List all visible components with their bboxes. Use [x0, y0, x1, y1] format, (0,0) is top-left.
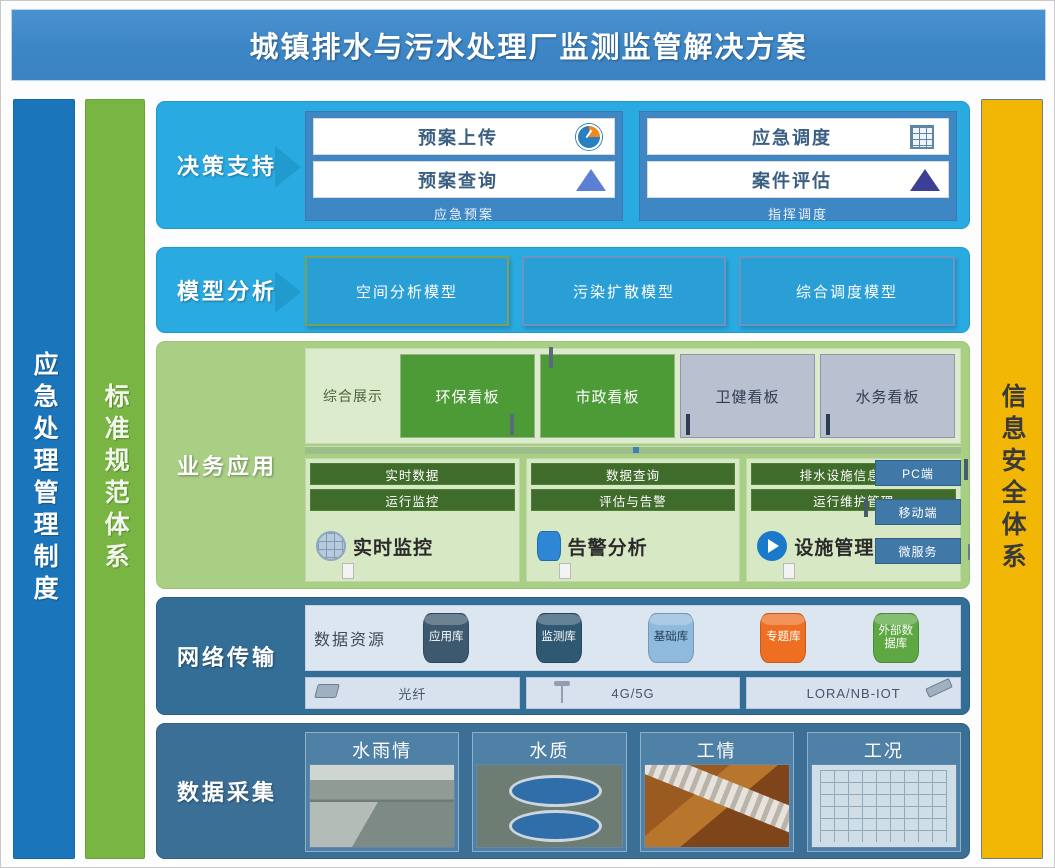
model-card-spatial[interactable]: 空间分析模型	[305, 256, 509, 326]
phone-icon	[864, 501, 868, 515]
treatment-plant-photo	[476, 764, 622, 848]
model-card-dispatch[interactable]: 综合调度模型	[739, 256, 955, 326]
fiber-icon	[314, 684, 340, 698]
decision-item-emergency-dispatch[interactable]: 应急调度	[647, 118, 949, 155]
play-icon	[757, 531, 787, 561]
data-card-water-quality[interactable]: 水质	[472, 732, 626, 852]
business-pill-assessment-alarm[interactable]: 评估与告警	[531, 489, 736, 511]
data-card-hydrology[interactable]: 水雨情	[305, 732, 459, 852]
dashboard-scrollbar[interactable]	[305, 446, 961, 454]
network-link-label: 4G/5G	[611, 686, 654, 701]
data-card-title: 工况	[811, 736, 957, 764]
terminal-buttons: PC端 移动端 微服务	[875, 460, 961, 582]
layer-network-transmission-label: 网络传输	[157, 598, 297, 714]
decision-item-label: 应急调度	[648, 124, 910, 150]
business-pill-operation-monitoring[interactable]: 运行监控	[310, 489, 515, 511]
business-columns: 实时数据 运行监控 实时监控 数据查询 评估与告警 告警分析 排水设施信息管理	[305, 458, 961, 582]
business-pill-data-query[interactable]: 数据查询	[531, 463, 736, 485]
database-external[interactable]: 外部数据库	[873, 613, 919, 663]
decision-group-emergency-plan: 预案上传 预案查询 应急预案	[305, 111, 623, 221]
scada-diagram-photo	[811, 764, 957, 848]
comprehensive-display-label: 综合展示	[311, 354, 395, 438]
globe-icon	[316, 531, 346, 561]
data-resource-strip: 数据资源 应用库 监测库 基础库 专题库 外部数据库	[305, 605, 961, 671]
board-municipal[interactable]: 市政看板	[540, 354, 675, 438]
decision-group-caption: 指挥调度	[647, 204, 949, 223]
layer-business-application: 业务应用 综合展示 环保看板 市政看板 卫健看板 水务看板 实	[156, 341, 970, 589]
database-monitoring[interactable]: 监测库	[536, 613, 582, 663]
pipeline-photo	[644, 764, 790, 848]
page-title: 城镇排水与污水处理厂监测监管解决方案	[249, 24, 807, 66]
network-link-fiber[interactable]: 光纤	[305, 677, 520, 709]
channel-photo	[309, 764, 455, 848]
business-column-monitoring: 实时数据 运行监控 实时监控	[305, 458, 520, 582]
grid-table-icon	[910, 122, 942, 152]
board-health[interactable]: 卫健看板	[680, 354, 815, 438]
gauge-icon	[576, 122, 608, 152]
pillar-information-security: 信息安全体系	[981, 99, 1043, 859]
board-water-affairs[interactable]: 水务看板	[820, 354, 955, 438]
data-card-title: 工情	[644, 736, 790, 764]
terminal-label: PC端	[902, 465, 934, 482]
laptop-icon	[964, 461, 968, 475]
database-list: 应用库 监测库 基础库 专题库 外部数据库	[390, 613, 952, 663]
board-label: 卫健看板	[715, 386, 779, 407]
pillar-left-label: 应急处理管理制度	[31, 351, 57, 607]
data-card-title: 水质	[476, 736, 622, 764]
network-link-label: 光纤	[398, 684, 426, 703]
layer-decision-support-label: 决策支持	[157, 102, 297, 228]
document-tag-icon	[342, 563, 354, 579]
business-feature-alarm-analysis[interactable]: 告警分析	[531, 515, 736, 577]
layer-network-transmission: 网络传输 数据资源 应用库 监测库 基础库 专题库 外部数据库 光纤 4G/5G…	[156, 597, 970, 715]
board-environment[interactable]: 环保看板	[400, 354, 535, 438]
pyramid-navy-icon	[910, 165, 942, 195]
database-icon	[537, 531, 561, 561]
board-label: 环保看板	[435, 386, 499, 407]
pillar-emergency-management: 应急处理管理制度	[13, 99, 75, 859]
business-pill-realtime-data[interactable]: 实时数据	[310, 463, 515, 485]
network-link-label: LORA/NB-IOT	[807, 686, 901, 701]
layer-business-application-label: 业务应用	[157, 342, 297, 588]
header-banner: 城镇排水与污水处理厂监测监管解决方案	[11, 9, 1046, 81]
terminal-label: 移动端	[898, 504, 937, 521]
decision-item-plan-upload[interactable]: 预案上传	[313, 118, 615, 155]
data-card-engineering[interactable]: 工情	[640, 732, 794, 852]
decision-item-case-assessment[interactable]: 案件评估	[647, 161, 949, 198]
pyramid-blue-icon	[576, 165, 608, 195]
wrench-icon	[968, 545, 970, 559]
pillar-right-label: 信息安全体系	[999, 383, 1025, 575]
business-column-alarm: 数据查询 评估与告警 告警分析	[526, 458, 741, 582]
database-basic[interactable]: 基础库	[648, 613, 694, 663]
decision-item-plan-query[interactable]: 预案查询	[313, 161, 615, 198]
terminal-label: 微服务	[898, 543, 937, 560]
chart-icon	[686, 416, 704, 432]
business-feature-label: 实时监控	[353, 533, 433, 560]
business-dashboard-strip: 综合展示 环保看板 市政看板 卫健看板 水务看板	[305, 348, 961, 444]
diagram-page: 城镇排水与污水处理厂监测监管解决方案 应急处理管理制度 标准规范体系 信息安全体…	[0, 0, 1055, 868]
decision-item-label: 案件评估	[648, 167, 910, 193]
data-resource-label: 数据资源	[314, 626, 386, 650]
terminal-pc-button[interactable]: PC端	[875, 460, 961, 486]
pillar-middle-label: 标准规范体系	[102, 383, 128, 575]
decision-group-caption: 应急预案	[313, 204, 615, 223]
document-tag-icon	[559, 563, 571, 579]
board-label: 市政看板	[575, 386, 639, 407]
layer-model-analysis: 模型分析 空间分析模型 污染扩散模型 综合调度模型	[156, 247, 970, 333]
decision-item-label: 预案上传	[314, 124, 576, 150]
network-link-list: 光纤 4G/5G LORA/NB-IOT	[305, 677, 961, 709]
antenna-icon	[561, 681, 563, 703]
chart-icon	[826, 416, 844, 432]
model-card-pollution[interactable]: 污染扩散模型	[522, 256, 726, 326]
data-card-title: 水雨情	[309, 736, 455, 764]
terminal-microservice-button[interactable]: 微服务	[875, 538, 961, 564]
database-thematic[interactable]: 专题库	[760, 613, 806, 663]
monitor-icon	[510, 416, 528, 432]
decision-item-label: 预案查询	[314, 167, 576, 193]
database-application[interactable]: 应用库	[423, 613, 469, 663]
layer-decision-support: 决策支持 预案上传 预案查询 应急预案 应急调度 案件评估 指挥调度	[156, 101, 970, 229]
pillar-standards-system: 标准规范体系	[85, 99, 145, 859]
data-card-working-condition[interactable]: 工况	[807, 732, 961, 852]
window-icon	[549, 349, 567, 365]
layer-model-analysis-label: 模型分析	[157, 248, 297, 332]
decision-group-command-dispatch: 应急调度 案件评估 指挥调度	[639, 111, 957, 221]
data-collection-cards: 水雨情 水质 工情 工况	[305, 732, 961, 852]
network-link-cellular[interactable]: 4G/5G	[526, 677, 741, 709]
document-tag-icon	[783, 563, 795, 579]
business-feature-label: 告警分析	[568, 533, 648, 560]
sensor-icon	[925, 678, 953, 698]
business-feature-label: 设施管理	[794, 533, 874, 560]
board-label: 水务看板	[855, 386, 919, 407]
terminal-mobile-button[interactable]: 移动端	[875, 499, 961, 525]
layer-data-collection-label: 数据采集	[157, 724, 297, 858]
network-link-lora[interactable]: LORA/NB-IOT	[746, 677, 961, 709]
business-feature-realtime-monitoring[interactable]: 实时监控	[310, 515, 515, 577]
layer-data-collection: 数据采集 水雨情 水质 工情 工况	[156, 723, 970, 859]
